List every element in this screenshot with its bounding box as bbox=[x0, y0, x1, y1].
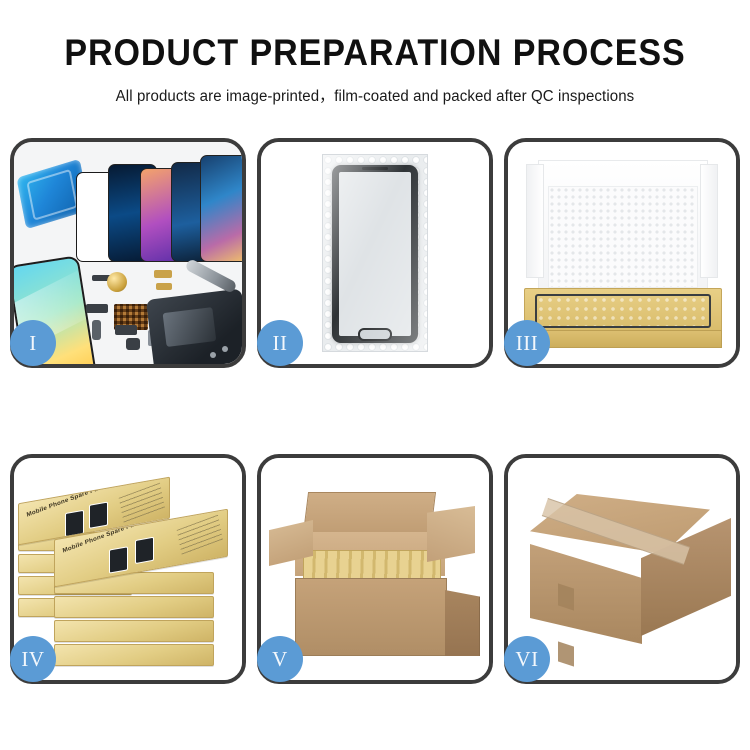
flex-connector-part bbox=[154, 270, 172, 278]
process-step-6: VI bbox=[504, 454, 740, 684]
page-subtitle: All products are image-printed，film-coat… bbox=[11, 84, 739, 106]
carton-side-face bbox=[445, 590, 480, 656]
sim-tray-part bbox=[92, 320, 101, 340]
vibrator-motor-part bbox=[107, 272, 127, 292]
page-title: PRODUCT PREPARATION PROCESS bbox=[30, 34, 720, 73]
retail-box-spec-list-back bbox=[119, 483, 166, 525]
wrapped-phone-screen bbox=[332, 165, 418, 343]
inner-box-front-edge bbox=[524, 330, 722, 348]
process-step-3: III bbox=[504, 138, 740, 368]
screw-part bbox=[222, 346, 228, 352]
retail-box-screen-thumb-1 bbox=[65, 510, 84, 537]
button-part bbox=[126, 338, 140, 350]
process-step-2: II bbox=[257, 138, 493, 368]
screw-part-2 bbox=[210, 352, 216, 358]
step-badge-5: V bbox=[257, 636, 303, 682]
retail-box-screen-thumb-2 bbox=[89, 502, 108, 529]
step-badge-1: I bbox=[10, 320, 56, 366]
box-lid-flap-right bbox=[700, 164, 718, 278]
process-step-4: Mobile Phone Spare Parts Mobile Phone Sp… bbox=[10, 454, 246, 684]
step-badge-4: IV bbox=[10, 636, 56, 682]
retail-box-front-3 bbox=[54, 596, 214, 618]
wrapped-screen-in-box bbox=[535, 294, 711, 328]
retail-box-screen-thumb-3 bbox=[109, 546, 128, 573]
product-preparation-infographic: PRODUCT PREPARATION PROCESS All products… bbox=[0, 0, 750, 750]
retail-box-spec-list-front bbox=[177, 515, 224, 557]
tape-tab-lower bbox=[558, 641, 574, 666]
box-lid-flap-left bbox=[526, 164, 544, 278]
retail-box-stack: Mobile Phone Spare Parts Mobile Phone Sp… bbox=[18, 476, 242, 672]
step-badge-2: II bbox=[257, 320, 303, 366]
logic-board-part bbox=[146, 288, 242, 364]
process-step-1: I bbox=[10, 138, 246, 368]
process-step-5: V bbox=[257, 454, 493, 684]
bubble-wrap-sheet bbox=[322, 154, 428, 352]
step-badge-3: III bbox=[504, 320, 550, 366]
speaker-part bbox=[115, 325, 137, 335]
phone-screen-gradient bbox=[200, 155, 242, 262]
flex-connector-part-2 bbox=[156, 283, 172, 290]
carton-front-face bbox=[295, 578, 447, 656]
retail-box-front-5 bbox=[54, 644, 214, 666]
foam-padding-sheet bbox=[548, 186, 698, 288]
camera-module-part bbox=[86, 304, 108, 313]
process-steps-grid: I II III bbox=[10, 138, 740, 684]
header: PRODUCT PREPARATION PROCESS All products… bbox=[0, 0, 750, 106]
sealed-carton-front-face bbox=[530, 544, 642, 644]
retail-box-screen-thumb-4 bbox=[135, 537, 154, 564]
carton-flap-right bbox=[427, 506, 475, 562]
retail-box-front-4 bbox=[54, 620, 214, 642]
inner-box-base bbox=[524, 288, 722, 336]
phone-screen-lineup bbox=[76, 150, 242, 262]
step-badge-6: VI bbox=[504, 636, 550, 682]
screwdriver-tool-icon bbox=[184, 258, 237, 294]
